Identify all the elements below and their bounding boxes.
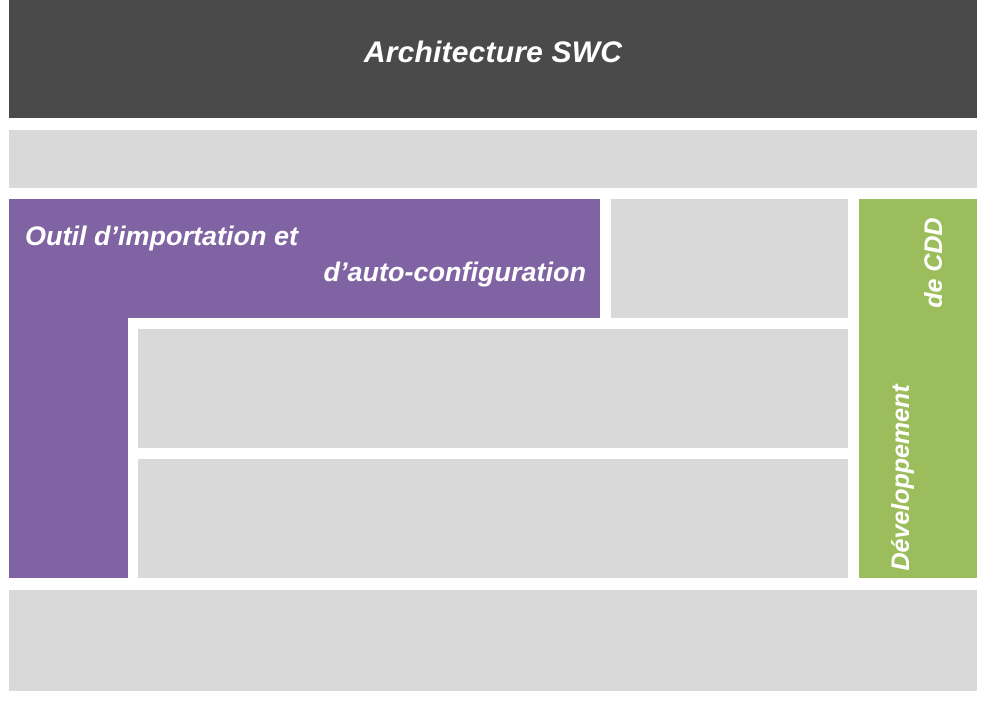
top-placeholder-strip [9,130,977,188]
cdd-development-label-line-1: Développement [885,199,918,578]
bottom-placeholder-strip [9,590,977,691]
cdd-development-label: Développement de CDD [885,199,951,578]
cdd-development-label-line-2: de CDD [918,199,951,578]
middle-placeholder-panel [138,329,848,448]
import-autoconfig-tool-label-line-2: d’auto-configuration [25,254,586,290]
top-right-placeholder-panel [611,199,848,318]
header-bar: Architecture SWC [9,0,977,118]
import-autoconfig-tool-block: Outil d’importation et d’auto-configurat… [9,199,600,318]
lower-placeholder-panel [138,459,848,578]
cdd-development-block: Développement de CDD [859,199,977,578]
import-autoconfig-tool-label-line-1: Outil d’importation et [25,218,586,254]
diagram-canvas: Architecture SWC Outil d’importation et … [0,0,986,709]
import-autoconfig-tool-label: Outil d’importation et d’auto-configurat… [25,218,586,290]
page-title: Architecture SWC [9,36,977,69]
